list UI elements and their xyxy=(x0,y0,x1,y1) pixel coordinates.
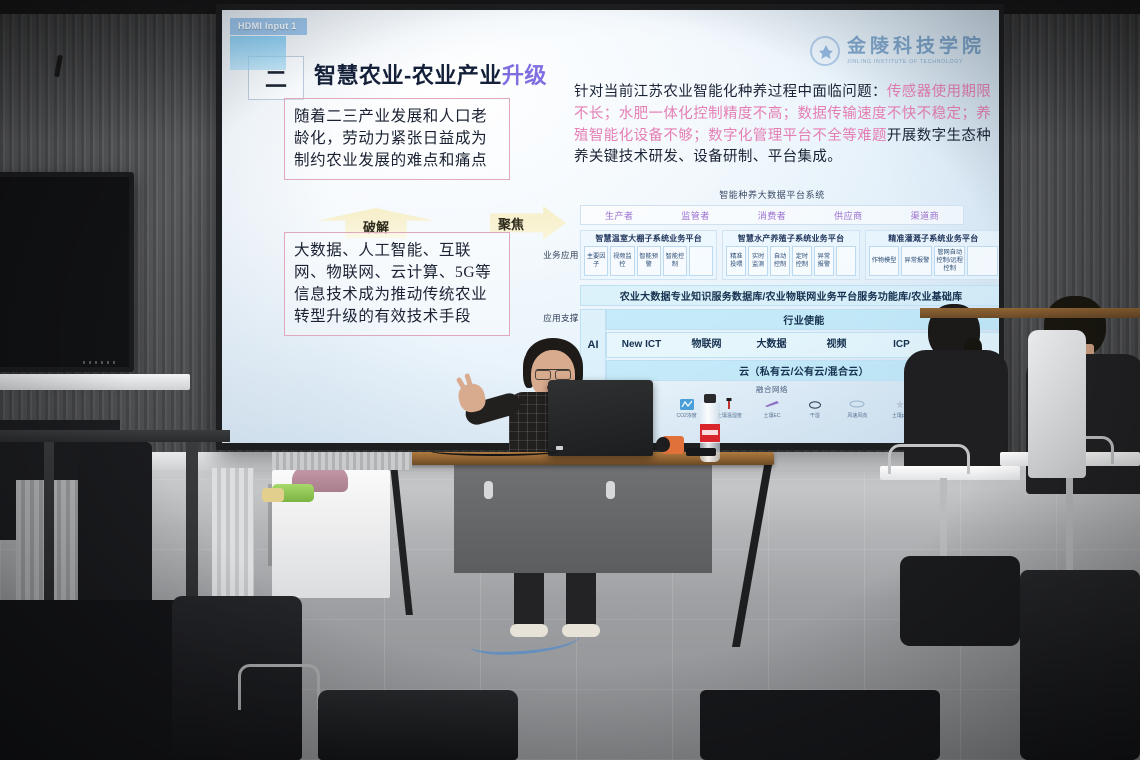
bottle-label xyxy=(700,424,720,442)
platform-cell-empty xyxy=(836,246,856,276)
sensor-item: 干湿 xyxy=(793,397,836,419)
desk-panel-slot-right xyxy=(606,481,615,499)
presenter-glasses xyxy=(535,369,571,377)
diagram-row-label-business: 业务应用 xyxy=(542,230,580,280)
foreground-chair-right-low xyxy=(700,690,940,760)
presenter-leg-left xyxy=(514,570,544,628)
presenter-legs xyxy=(514,570,610,640)
tech-item: 大数据 xyxy=(739,340,804,351)
left-text-box-1: 随着二三产业发展和人口老龄化，劳动力紧张日益成为制约农业发展的难点和痛点 xyxy=(284,98,510,180)
university-logo: 金陵科技学院 JINLING INSTITUTE OF TECHNOLOGY xyxy=(810,36,985,66)
student-desk-rail xyxy=(888,444,970,474)
presenter-leg-right xyxy=(566,570,596,628)
arrow-right-label: 聚焦 xyxy=(490,214,524,233)
foreground-chair-right xyxy=(1020,570,1140,760)
foreground-desk-wood-right xyxy=(920,308,1140,318)
platform-cell-empty xyxy=(689,246,713,276)
platform-cell: 智能预警 xyxy=(637,246,661,276)
humidity-icon xyxy=(793,397,836,411)
side-monitor-shelf xyxy=(0,374,190,390)
diagram-platforms: 智慧温室大棚子系统业务平台 主要因子 视频监控 智能预警 智能控制 xyxy=(580,230,999,280)
yellow-item xyxy=(262,488,284,502)
platform-cell: 智能控制 xyxy=(663,246,687,276)
university-name-cn: 金陵科技学院 xyxy=(847,37,985,56)
hdmi-highlight-block xyxy=(230,36,286,70)
platform-cells: 作物模型 异常报警 管网自动控制/远程控制 xyxy=(869,246,998,276)
platform-cell: 作物模型 xyxy=(869,246,900,276)
laptop xyxy=(548,380,653,456)
role-item: 消费者 xyxy=(734,209,810,222)
platform-cell: 自动控制 xyxy=(770,246,790,276)
foreground-desk-leg-a xyxy=(44,442,54,622)
desk-leg-right xyxy=(732,465,772,647)
platform-title: 智慧水产养殖子系统业务平台 xyxy=(726,233,855,244)
desk-modesty-panel xyxy=(454,465,712,573)
platform-aquaculture: 智慧水产养殖子系统业务平台 精准投喂 实时监测 自动控制 定时控制 异常报警 xyxy=(722,230,859,280)
university-name-en: JINLING INSTITUTE OF TECHNOLOGY xyxy=(847,59,985,65)
platform-title: 智慧温室大棚子系统业务平台 xyxy=(584,233,713,244)
role-item: 供应商 xyxy=(810,209,886,222)
side-wall-monitor xyxy=(0,172,134,372)
sensor-item: 土壤EC xyxy=(751,397,794,419)
presenter-shoe-right xyxy=(562,624,600,637)
platform-cell: 视频监控 xyxy=(610,246,634,276)
slide-title: 智慧农业-农业产业升级 xyxy=(314,58,547,90)
platform-cell: 主要因子 xyxy=(584,246,608,276)
tech-item: 视频 xyxy=(804,340,869,351)
left-text-box-2: 大数据、人工智能、互联网、物联网、云计算、5G等信息技术成为推动传统农业转型升级… xyxy=(284,232,510,336)
platform-title: 精准灌溉子系统业务平台 xyxy=(869,233,998,244)
sensor-label: 干湿 xyxy=(793,412,836,419)
right-paragraph-lead: 针对当前江苏农业智能化种养过程中面临问题： xyxy=(574,84,887,100)
platform-irrigation: 精准灌溉子系统业务平台 作物模型 异常报警 管网自动控制/远程控制 xyxy=(865,230,999,280)
role-item: 生产者 xyxy=(581,209,657,222)
platform-cell: 异常报警 xyxy=(814,246,834,276)
classroom-photo-scene: HDMI Input 1 二 智慧农业-农业产业升级 金陵科技学院 JINLIN… xyxy=(0,0,1140,760)
foreground-chair-center xyxy=(318,690,518,760)
university-crest-icon xyxy=(810,36,840,66)
role-item: 监管者 xyxy=(657,209,733,222)
slide-title-highlight: 升级 xyxy=(502,63,547,88)
student-desk-leg-right xyxy=(1066,464,1073,574)
sensor-item: 风速风向 xyxy=(836,397,879,419)
role-item: 渠道商 xyxy=(887,209,963,222)
sensor-label: 风速风向 xyxy=(836,412,879,419)
diagram-title: 智能种养大数据平台系统 xyxy=(542,188,999,201)
platform-cells: 精准投喂 实时监测 自动控制 定时控制 异常报警 xyxy=(726,246,855,276)
hdmi-input-badge: HDMI Input 1 xyxy=(230,18,307,35)
phone-on-desk xyxy=(686,448,716,456)
desk-panel-slot-left xyxy=(484,481,493,499)
slide-title-main: 智慧农业-农业产业 xyxy=(314,63,502,88)
right-paragraph: 针对当前江苏农业智能化种养过程中面临问题：传感器使用期限不长；水肥一体化控制精度… xyxy=(574,82,998,169)
student-lower-body xyxy=(900,556,1020,646)
diagram-roles-row: 生产者 监管者 消费者 供应商 渠道商 xyxy=(580,205,964,225)
foreground-desk-rail xyxy=(238,664,320,710)
tech-item: New ICT xyxy=(609,340,674,351)
bottle-cap xyxy=(704,394,716,403)
wind-icon xyxy=(836,397,879,411)
platform-cell: 实时监测 xyxy=(748,246,768,276)
desk-cables xyxy=(430,446,560,456)
platform-cell: 定时控制 xyxy=(792,246,812,276)
platform-cell: 管网自动控制/远程控制 xyxy=(934,246,965,276)
podium-desk xyxy=(396,452,774,664)
soil-icon xyxy=(751,397,794,411)
wall-panel-strip xyxy=(272,452,412,470)
platform-cells: 主要因子 视频监控 智能预警 智能控制 xyxy=(584,246,713,276)
platform-cell: 精准投喂 xyxy=(726,246,746,276)
diagram-business-row: 业务应用 智慧温室大棚子系统业务平台 主要因子 视频监控 智能预警 智能控制 xyxy=(542,230,999,280)
platform-greenhouse: 智慧温室大棚子系统业务平台 主要因子 视频监控 智能预警 智能控制 xyxy=(580,230,717,280)
foreground-desk-top-left xyxy=(0,430,230,442)
desk-device xyxy=(662,436,684,454)
monitor-control-dots xyxy=(83,361,117,364)
platform-cell-empty xyxy=(967,246,998,276)
tech-item: 物联网 xyxy=(674,340,739,351)
student-chair-white xyxy=(1028,330,1086,478)
sensor-label: 土壤EC xyxy=(751,412,794,419)
platform-cell: 异常报警 xyxy=(901,246,932,276)
presenter-shoe-left xyxy=(510,624,548,637)
